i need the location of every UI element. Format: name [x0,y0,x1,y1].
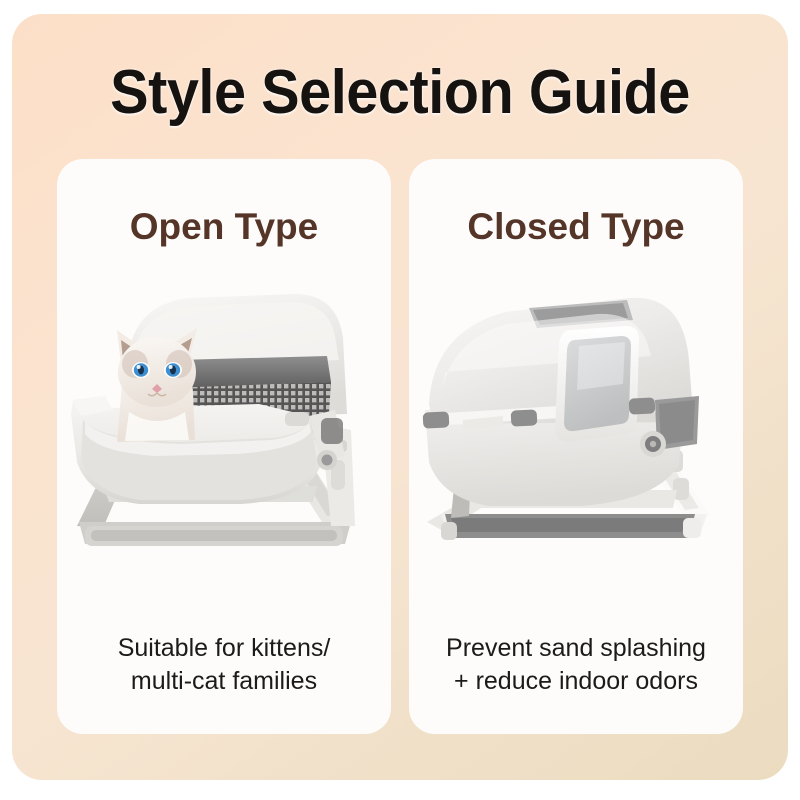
caption-line-2: + reduce indoor odors [423,665,729,698]
caption-line-1: Suitable for kittens/ [71,632,377,665]
product-image-closed-type [409,264,743,604]
cat-illustration [117,328,197,442]
card-row: Open Type [57,159,743,734]
caption-line-1: Prevent sand splashing [423,632,729,665]
page-title: Style Selection Guide [39,62,761,124]
card-caption-open-type: Suitable for kittens/ multi-cat families [57,632,391,698]
card-open-type[interactable]: Open Type [57,159,391,734]
product-image-open-type [57,264,391,604]
card-closed-type[interactable]: Closed Type [409,159,743,734]
card-caption-closed-type: Prevent sand splashing + reduce indoor o… [409,632,743,698]
product-door [555,326,639,442]
card-heading-open-type: Open Type [57,206,391,248]
caption-line-2: multi-cat families [71,665,377,698]
poster-root: Style Selection Guide Open Type [0,0,800,800]
card-heading-closed-type: Closed Type [409,206,743,248]
poster-panel: Style Selection Guide Open Type [12,14,788,780]
